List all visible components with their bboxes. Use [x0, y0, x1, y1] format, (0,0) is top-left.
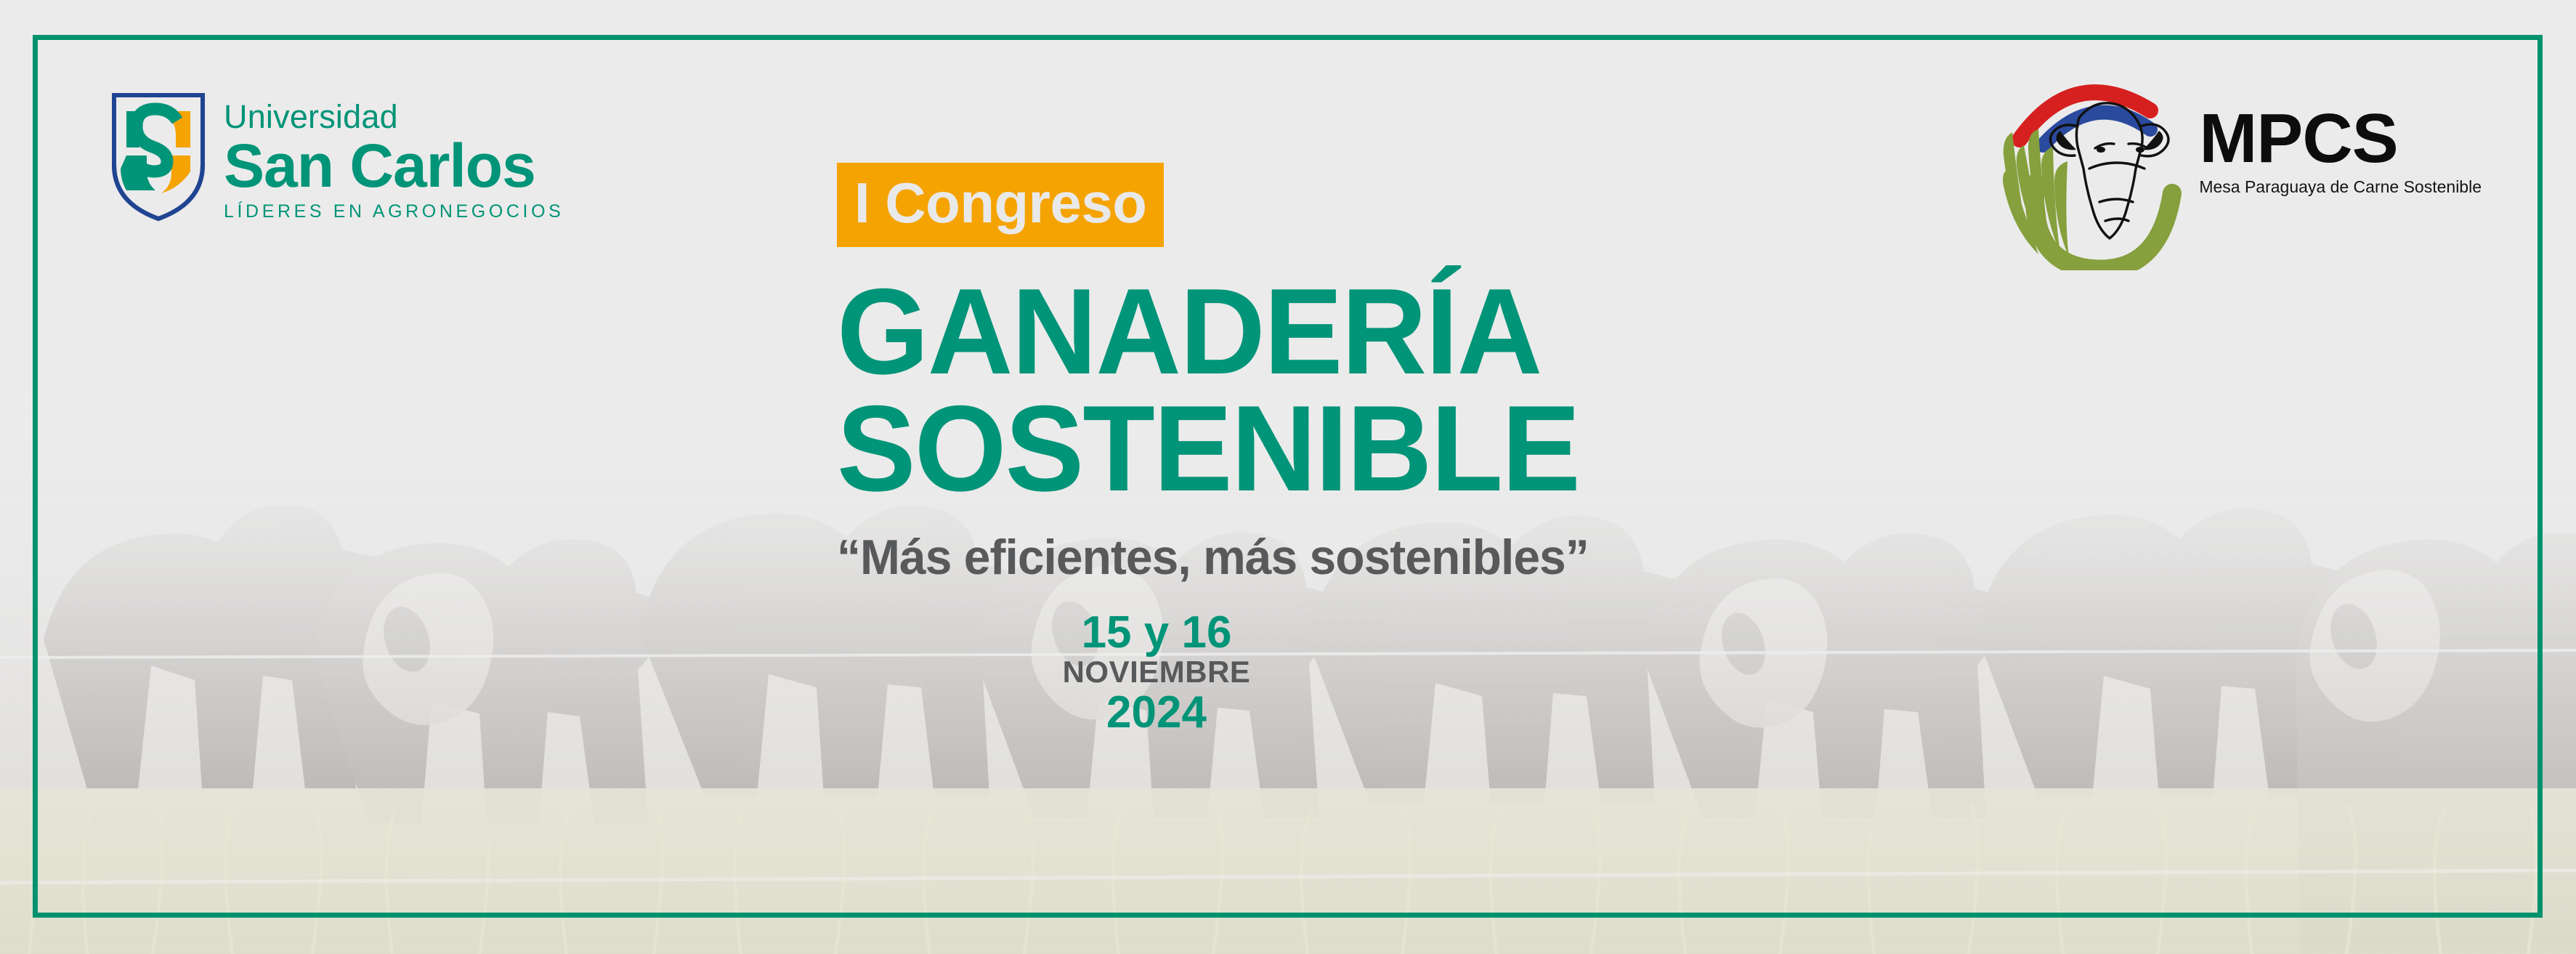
event-date-year: 2024 — [837, 689, 1476, 736]
event-tagline: “Más eficientes, más sostenibles” — [837, 533, 1823, 582]
event-date-days: 15 y 16 — [837, 610, 1476, 655]
congress-badge: I Congreso — [837, 163, 1164, 247]
event-date-month: NOVIEMBRE — [837, 655, 1476, 689]
event-title-line2: SOSTENIBLE — [837, 390, 1823, 507]
usc-name-label: San Carlos — [224, 136, 564, 195]
usc-logo: Universidad San Carlos LÍDERES EN AGRONE… — [110, 92, 564, 222]
event-block: I Congreso GANADERÍA SOSTENIBLE “Más efi… — [837, 163, 1854, 736]
mpcs-fullname-label: Mesa Paraguaya de Carne Sostenible — [2199, 177, 2482, 197]
mpcs-cow-grass-icon — [1998, 60, 2190, 270]
event-dates: 15 y 16 NOVIEMBRE 2024 — [837, 610, 1476, 737]
congress-banner: Universidad San Carlos LÍDERES EN AGRONE… — [0, 0, 2576, 954]
usc-universidad-label: Universidad — [224, 100, 564, 133]
mpcs-logo: MPCS Mesa Paraguaya de Carne Sostenible — [1998, 60, 2482, 270]
event-title: GANADERÍA SOSTENIBLE — [837, 273, 1823, 508]
usc-shield-icon — [110, 92, 206, 222]
event-title-line1: GANADERÍA — [837, 263, 1541, 400]
usc-tagline-label: LÍDERES EN AGRONEGOCIOS — [224, 201, 564, 222]
mpcs-acronym-label: MPCS — [2199, 107, 2482, 171]
